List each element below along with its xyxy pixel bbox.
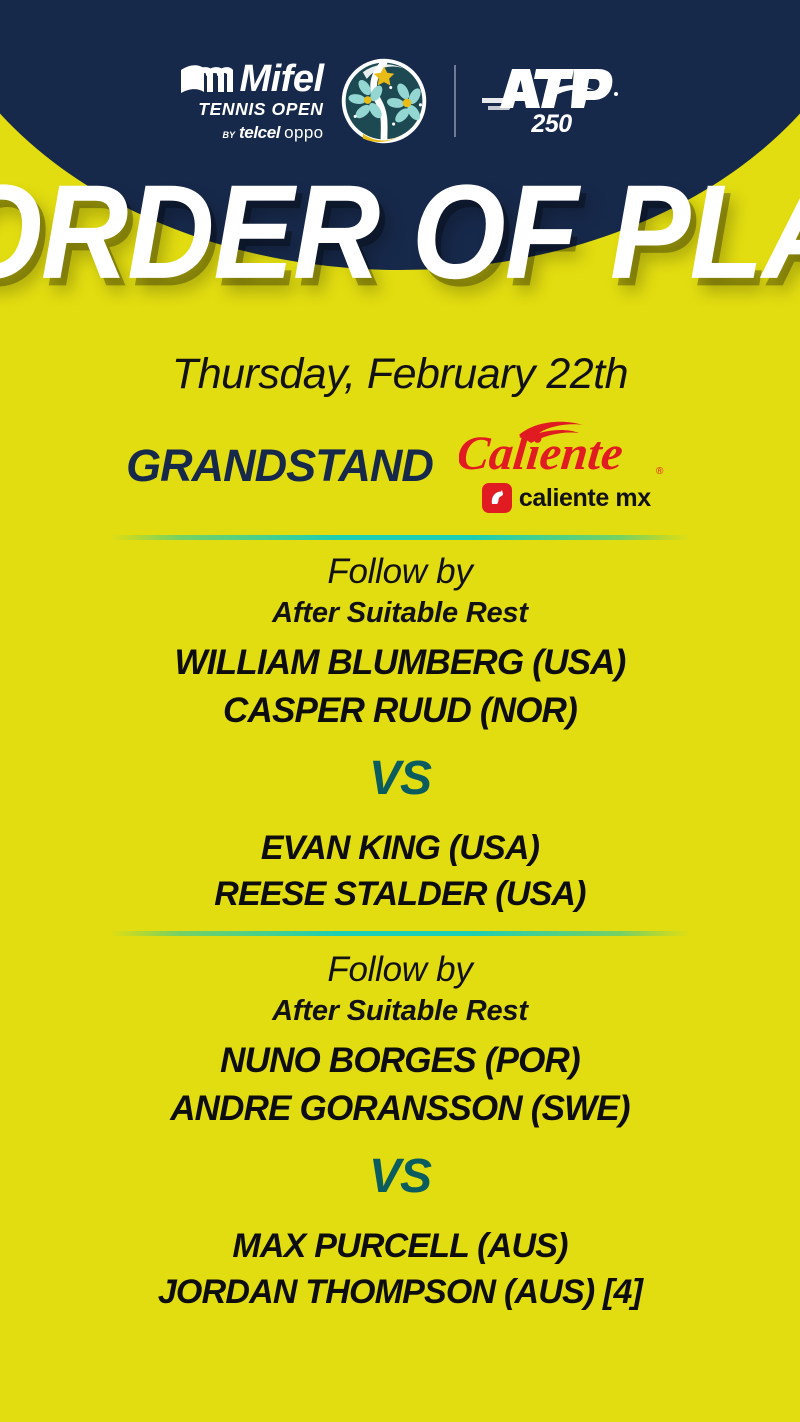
mifel-sponsors-row: BY telcel oppo bbox=[223, 124, 324, 141]
match-1-team-b-player-2: REESE STALDER (USA) bbox=[0, 871, 800, 918]
match-2-schedule-secondary: After Suitable Rest bbox=[0, 993, 800, 1031]
mifel-tennis-open-logo: Mifel TENNIS OPEN BY telcel oppo bbox=[178, 53, 431, 149]
match-2-schedule-primary: Follow by bbox=[0, 950, 800, 990]
svg-text:Caliente: Caliente bbox=[459, 427, 625, 480]
mifel-by-label: BY bbox=[223, 131, 236, 140]
horse-head-glyph bbox=[487, 488, 507, 508]
page-title-wrap: ORDER OF PLAY bbox=[0, 178, 800, 286]
page-title: ORDER OF PLAY bbox=[0, 165, 800, 299]
match-2-vs-label: VS bbox=[0, 1153, 800, 1201]
order-of-play-poster: Mifel TENNIS OPEN BY telcel oppo bbox=[0, 0, 800, 1422]
tennis-ball-flower-icon bbox=[336, 53, 432, 149]
vertical-divider bbox=[454, 65, 456, 137]
court-row: GRANDSTAND Caliente ® caliente mx bbox=[0, 418, 800, 514]
caliente-mx-lockup: caliente mx bbox=[482, 483, 651, 513]
match-1-team-b-player-1: EVAN KING (USA) bbox=[0, 825, 800, 872]
caliente-mx-label: caliente mx bbox=[519, 484, 651, 513]
match-1-schedule-secondary: After Suitable Rest bbox=[0, 595, 800, 633]
match-1-schedule-primary: Follow by bbox=[0, 552, 800, 592]
match-1-team-a-player-2: CASPER RUUD (NOR) bbox=[0, 687, 800, 735]
section-divider-2 bbox=[110, 931, 690, 936]
match-1-team-a: WILLIAM BLUMBERG (USA) CASPER RUUD (NOR) bbox=[0, 639, 800, 735]
caliente-sponsor-logo: Caliente ® caliente mx bbox=[459, 419, 674, 513]
caliente-script-wordmark-icon: Caliente ® bbox=[459, 419, 674, 481]
court-name: GRANDSTAND bbox=[126, 440, 433, 492]
match-2-team-a-player-2: ANDRE GORANSSON (SWE) bbox=[0, 1085, 800, 1133]
oppo-logo: oppo bbox=[284, 124, 323, 141]
mifel-wordmark-block: Mifel TENNIS OPEN BY telcel oppo bbox=[178, 61, 323, 141]
event-date: Thursday, February 22th bbox=[0, 350, 800, 399]
atp-logo: 250 bbox=[482, 64, 622, 139]
match-1-team-a-player-1: WILLIAM BLUMBERG (USA) bbox=[0, 639, 800, 687]
match-1-team-b: EVAN KING (USA) REESE STALDER (USA) bbox=[0, 825, 800, 918]
match-2-team-a: NUNO BORGES (POR) ANDRE GORANSSON (SWE) bbox=[0, 1037, 800, 1133]
match-2-team-a-player-1: NUNO BORGES (POR) bbox=[0, 1037, 800, 1085]
match-1-vs-label: VS bbox=[0, 755, 800, 803]
caliente-horse-icon bbox=[482, 483, 512, 513]
mifel-name: Mifel bbox=[239, 61, 323, 97]
atp-wordmark-icon bbox=[482, 64, 622, 116]
section-divider-1 bbox=[110, 535, 690, 540]
atp-tier-label: 250 bbox=[531, 110, 571, 139]
match-block-2: Follow by After Suitable Rest NUNO BORGE… bbox=[0, 950, 800, 1316]
match-block-1: Follow by After Suitable Rest WILLIAM BL… bbox=[0, 552, 800, 918]
mifel-wave-icon bbox=[178, 62, 234, 96]
telcel-logo: telcel bbox=[239, 124, 280, 141]
match-2-team-b-player-1: MAX PURCELL (AUS) bbox=[0, 1223, 800, 1270]
mifel-name-row: Mifel bbox=[178, 61, 323, 97]
svg-text:®: ® bbox=[656, 466, 664, 477]
header-logo-strip: Mifel TENNIS OPEN BY telcel oppo bbox=[0, 46, 800, 156]
mifel-subtitle: TENNIS OPEN bbox=[198, 101, 323, 119]
match-2-team-b: MAX PURCELL (AUS) JORDAN THOMPSON (AUS) … bbox=[0, 1223, 800, 1316]
match-2-team-b-player-2: JORDAN THOMPSON (AUS) [4] bbox=[0, 1269, 800, 1316]
